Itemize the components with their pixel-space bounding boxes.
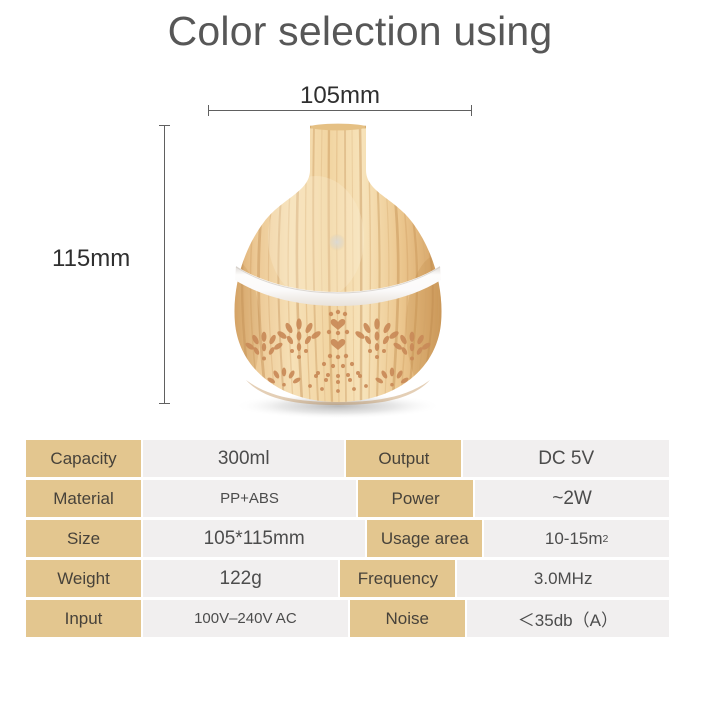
spec-value-output: DC 5V <box>463 440 669 477</box>
table-row: Material PP+ABS Power ~2W <box>26 480 669 517</box>
table-row: Weight 122g Frequency 3.0MHz <box>26 560 669 597</box>
table-row: Size 105*115mm Usage area 10-15m2 <box>26 520 669 557</box>
height-dimension-label: 115mm <box>52 245 156 273</box>
product-image-aroma-diffuser <box>198 118 478 418</box>
width-dimension-label: 105mm <box>208 82 472 110</box>
spec-value-noise: ＜35db（A） <box>467 600 669 637</box>
spec-label-power: Power <box>358 480 473 517</box>
page-title: Color selection using <box>0 8 720 55</box>
spec-value-material: PP+ABS <box>143 480 356 517</box>
spec-value-frequency: 3.0MHz <box>457 560 669 597</box>
diffuser-body <box>208 126 474 402</box>
spec-label-weight: Weight <box>26 560 141 597</box>
spec-label-usage-area: Usage area <box>367 520 482 557</box>
spec-value-usage-area-text: 10-15m <box>545 529 603 549</box>
diffuser-neck-opening <box>310 124 366 131</box>
spec-value-size: 105*115mm <box>143 520 365 557</box>
spec-value-power: ~2W <box>475 480 669 517</box>
spec-label-size: Size <box>26 520 141 557</box>
spec-label-frequency: Frequency <box>340 560 455 597</box>
width-dimension-line <box>208 110 472 111</box>
spec-label-material: Material <box>26 480 141 517</box>
spec-value-capacity: 300ml <box>143 440 344 477</box>
spec-value-usage-area: 10-15m2 <box>484 520 669 557</box>
spec-label-input: Input <box>26 600 141 637</box>
spec-label-output: Output <box>346 440 461 477</box>
power-button-dot <box>328 234 346 252</box>
spec-value-weight: 122g <box>143 560 338 597</box>
height-dimension-line <box>164 125 165 404</box>
spec-value-input: 100V–240V AC <box>143 600 348 637</box>
spec-value-usage-area-superscript: 2 <box>603 533 609 545</box>
spec-label-capacity: Capacity <box>26 440 141 477</box>
table-row: Input 100V–240V AC Noise ＜35db（A） <box>26 600 669 637</box>
specifications-table: Capacity 300ml Output DC 5V Material PP+… <box>26 440 669 637</box>
spec-label-noise: Noise <box>350 600 465 637</box>
table-row: Capacity 300ml Output DC 5V <box>26 440 669 477</box>
